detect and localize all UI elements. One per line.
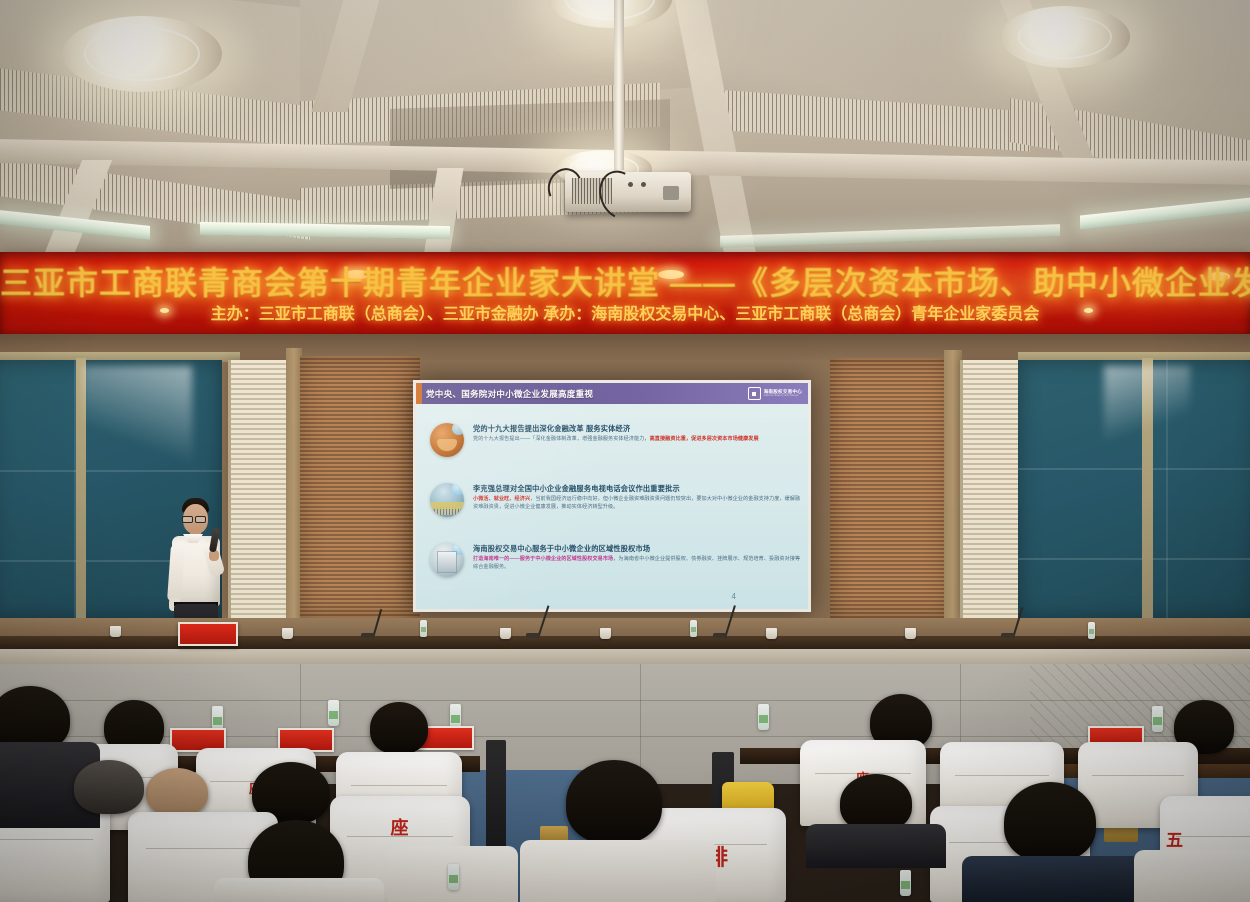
slide-title: 党中央、国务院对中小微企业发展高度重视 bbox=[426, 388, 593, 400]
banner-title: 三亚市工商联青商会第十期青年企业家大讲堂 ——《多层次资本市场、助中小微企业发展… bbox=[0, 258, 1250, 304]
wood-slat-wall-left bbox=[300, 356, 420, 618]
table-microphone-4 bbox=[1000, 606, 1016, 638]
wall-panel-teal-right bbox=[1018, 360, 1250, 620]
bullet-1-heading: 党的十九大报告提出深化金融改革 服务实体经济 bbox=[473, 424, 802, 434]
slide-page-number: 4 bbox=[732, 592, 736, 601]
bullet-3-heading: 海南股权交易中心服务于中小微企业的区域性股权市场 bbox=[473, 544, 802, 554]
audience-head-center bbox=[566, 760, 662, 844]
seat-label-f3: 座 bbox=[330, 814, 470, 840]
audience-shoulder-right bbox=[962, 856, 1142, 902]
projector-mount-rod bbox=[614, 0, 624, 170]
building-icon bbox=[430, 543, 464, 577]
table-cup-5 bbox=[766, 628, 777, 639]
projection-screen: 党中央、国务院对中小微企业发展高度重视 海南股权交易中心 Hainan Equi… bbox=[413, 380, 811, 612]
slide-bullet-2: 李克强总理对全国中小企业金融服务电视电话会议作出重要批示 小微活、就业旺、经济兴… bbox=[430, 483, 802, 517]
audience-water-bottle-5 bbox=[1152, 706, 1163, 732]
table-cup-2 bbox=[282, 628, 293, 639]
table-microphone-1 bbox=[360, 608, 376, 638]
bullet-1-body: 党的十九大报告提出——「深化金融体制改革，增强金融服务实体经济能力，高直接融资比… bbox=[473, 436, 802, 444]
tube-light-right-2 bbox=[720, 224, 1060, 248]
tube-light-center bbox=[200, 222, 450, 239]
table-cup-4 bbox=[600, 628, 611, 639]
ceiling bbox=[0, 0, 1250, 258]
dome-light-right bbox=[1000, 6, 1130, 68]
tube-light-right bbox=[1080, 197, 1250, 230]
table-microphone-3 bbox=[712, 604, 728, 638]
bullet-1-body-plain: 党的十九大报告提出——「深化金融体制改革，增强金融服务实体经济能力， bbox=[473, 436, 650, 442]
projector-indicator-2 bbox=[641, 182, 646, 187]
audience-shoulder-center bbox=[520, 840, 716, 902]
table-microphone-2 bbox=[525, 604, 541, 638]
table-cup-1 bbox=[110, 626, 121, 637]
audience-head-b2 bbox=[370, 702, 428, 754]
bullet-3-body: 打造海南唯一的——服务于中小微企业的区域性股权交易市场，为海南省中小微企业提供股… bbox=[473, 556, 802, 571]
bullet-2-body: 小微活、就业旺、经济兴，当前我国经济运行稳中向好，但小微企业融资难融资贵问题仍较… bbox=[473, 496, 802, 511]
audience-water-bottle-7 bbox=[900, 870, 911, 896]
slide-bullet-3: 海南股权交易中心服务于中小微企业的区域性股权市场 打造海南唯一的——服务于中小微… bbox=[430, 543, 802, 577]
square-logo-icon bbox=[748, 387, 761, 400]
projector-lens bbox=[663, 186, 679, 200]
teal-mullion-right bbox=[1142, 358, 1153, 620]
conference-hall-photo: 三亚市工商联青商会第十期青年企业家大讲堂 ——《多层次资本市场、助中小微企业发展… bbox=[0, 0, 1250, 902]
bullet-2-body-highlight: 小微活、就业旺、经济兴 bbox=[473, 496, 530, 502]
audience-water-bottle-4 bbox=[758, 704, 769, 730]
audience-head-m2 bbox=[146, 768, 208, 816]
drum-icon bbox=[430, 423, 464, 457]
logo-name-en: Hainan Equity Exchange bbox=[764, 394, 802, 397]
globe-icon bbox=[430, 483, 464, 517]
slide-logo: 海南股权交易中心 Hainan Equity Exchange bbox=[748, 387, 802, 400]
banner-subtitle: 主办：三亚市工商联（总商会）、三亚市金融办 承办：海南股权交易中心、三亚市工商联… bbox=[0, 300, 1250, 324]
audience-water-bottle-6 bbox=[448, 864, 459, 890]
audience-shoulder-f1 bbox=[214, 878, 384, 902]
table-cup-6 bbox=[905, 628, 916, 639]
slide-bullet-1: 党的十九大报告提出深化金融改革 服务实体经济 党的十九大报告提出——「深化金融体… bbox=[430, 423, 802, 457]
event-banner: 三亚市工商联青商会第十期青年企业家大讲堂 ——《多层次资本市场、助中小微企业发展… bbox=[0, 252, 1250, 334]
table-cup-3 bbox=[500, 628, 511, 639]
bullet-1-text: 党的十九大报告提出深化金融改革 服务实体经济 党的十九大报告提出——「深化金融体… bbox=[473, 423, 802, 457]
slide-header-bar: 党中央、国务院对中小微企业发展高度重视 海南股权交易中心 Hainan Equi… bbox=[416, 383, 808, 404]
table-bottle-3 bbox=[1088, 622, 1095, 639]
dome-light-left bbox=[62, 16, 222, 92]
audience-shoulder-r2 bbox=[806, 824, 946, 868]
logo-text: 海南股权交易中心 Hainan Equity Exchange bbox=[764, 390, 802, 398]
audience-shoulder-f5 bbox=[1134, 850, 1250, 902]
table-bottle-1 bbox=[420, 620, 427, 637]
bullet-2-text: 李克强总理对全国中小企业金融服务电视电话会议作出重要批示 小微活、就业旺、经济兴… bbox=[473, 483, 802, 517]
table-bottle-2 bbox=[690, 620, 697, 637]
wood-slat-wall-right bbox=[830, 358, 950, 618]
presentation-slide: 党中央、国务院对中小微企业发展高度重视 海南股权交易中心 Hainan Equi… bbox=[416, 383, 808, 609]
audience-head-right bbox=[1004, 782, 1096, 862]
bullet-3-text: 海南股权交易中心服务于中小微企业的区域性股权市场 打造海南唯一的——服务于中小微… bbox=[473, 543, 802, 577]
seat-label-f6: 五 bbox=[1160, 826, 1250, 851]
bullet-1-body-highlight: 高直接融资比重，促进多层次资本市场健康发展 bbox=[650, 436, 759, 442]
speaker-name-card bbox=[178, 622, 238, 646]
slide-accent-tab bbox=[416, 383, 422, 404]
bullet-3-body-highlight: 打造海南唯一的——服务于中小微企业的区域性股权交易市场 bbox=[473, 556, 613, 562]
bullet-2-heading: 李克强总理对全国中小企业金融服务电视电话会议作出重要批示 bbox=[473, 484, 802, 494]
teal-mullion-left bbox=[76, 358, 86, 620]
audience-water-bottle-2 bbox=[328, 700, 339, 726]
audience-head-f2 bbox=[74, 760, 144, 814]
eyeglasses-icon bbox=[182, 516, 205, 521]
